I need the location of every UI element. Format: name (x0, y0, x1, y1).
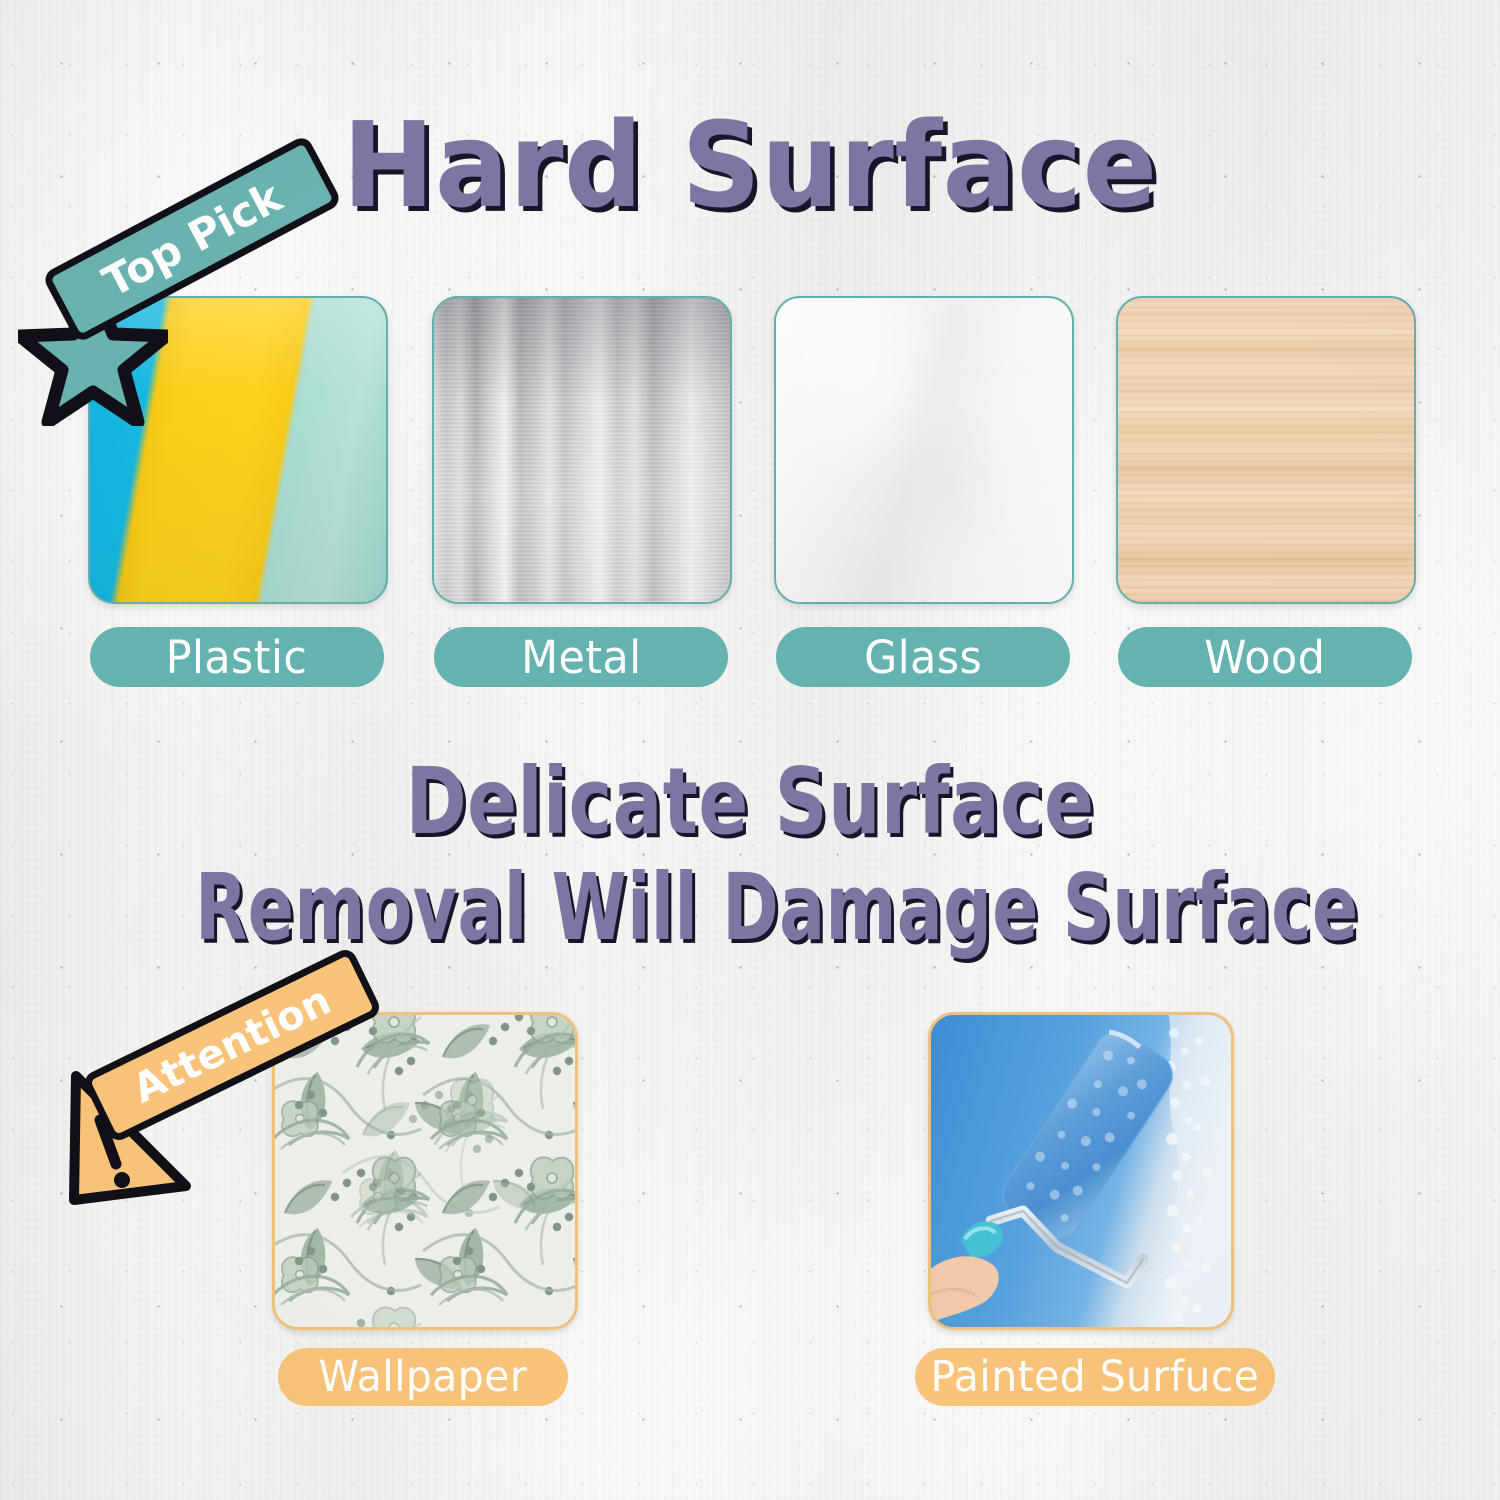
wood-grain-overlay (1118, 298, 1414, 602)
attention-label: Attention (126, 978, 338, 1113)
glass-swatch-icon (774, 296, 1074, 604)
label-pill-plastic: Plastic (90, 627, 384, 687)
top-pick-badge: Top Pick (0, 150, 340, 420)
infographic-root: Hard Surface Plastic Metal Glass Wood T (0, 0, 1500, 1500)
label-text-metal: Metal (521, 631, 641, 684)
wood-swatch-icon (1116, 296, 1416, 604)
label-pill-wood: Wood (1118, 627, 1412, 687)
metal-shade-overlay (434, 298, 730, 602)
top-pick-ribbon-bar: Top Pick (41, 134, 343, 344)
delicate-surface-heading-line1: Delicate Surface (150, 752, 1350, 852)
label-text-wallpaper: Wallpaper (319, 1352, 528, 1402)
label-pill-painted-surface: Painted Surfuce (915, 1348, 1275, 1406)
label-text-plastic: Plastic (166, 631, 308, 684)
delicate-surface-heading-line2: Removal Will Damage Surface (195, 858, 1305, 958)
metal-swatch-icon (432, 296, 732, 604)
attention-badge: Attention (50, 970, 390, 1220)
painted-surface-swatch-icon (928, 1012, 1234, 1330)
glass-sheen-overlay (776, 298, 1072, 602)
label-text-glass: Glass (864, 631, 982, 684)
label-text-painted-surface: Painted Surfuce (931, 1352, 1260, 1402)
label-pill-glass: Glass (776, 627, 1070, 687)
attention-ribbon-bar: Attention (81, 946, 383, 1144)
label-pill-wallpaper: Wallpaper (278, 1348, 568, 1406)
top-pick-label: Top Pick (95, 172, 290, 307)
label-pill-metal: Metal (434, 627, 728, 687)
label-text-wood: Wood (1204, 631, 1325, 684)
